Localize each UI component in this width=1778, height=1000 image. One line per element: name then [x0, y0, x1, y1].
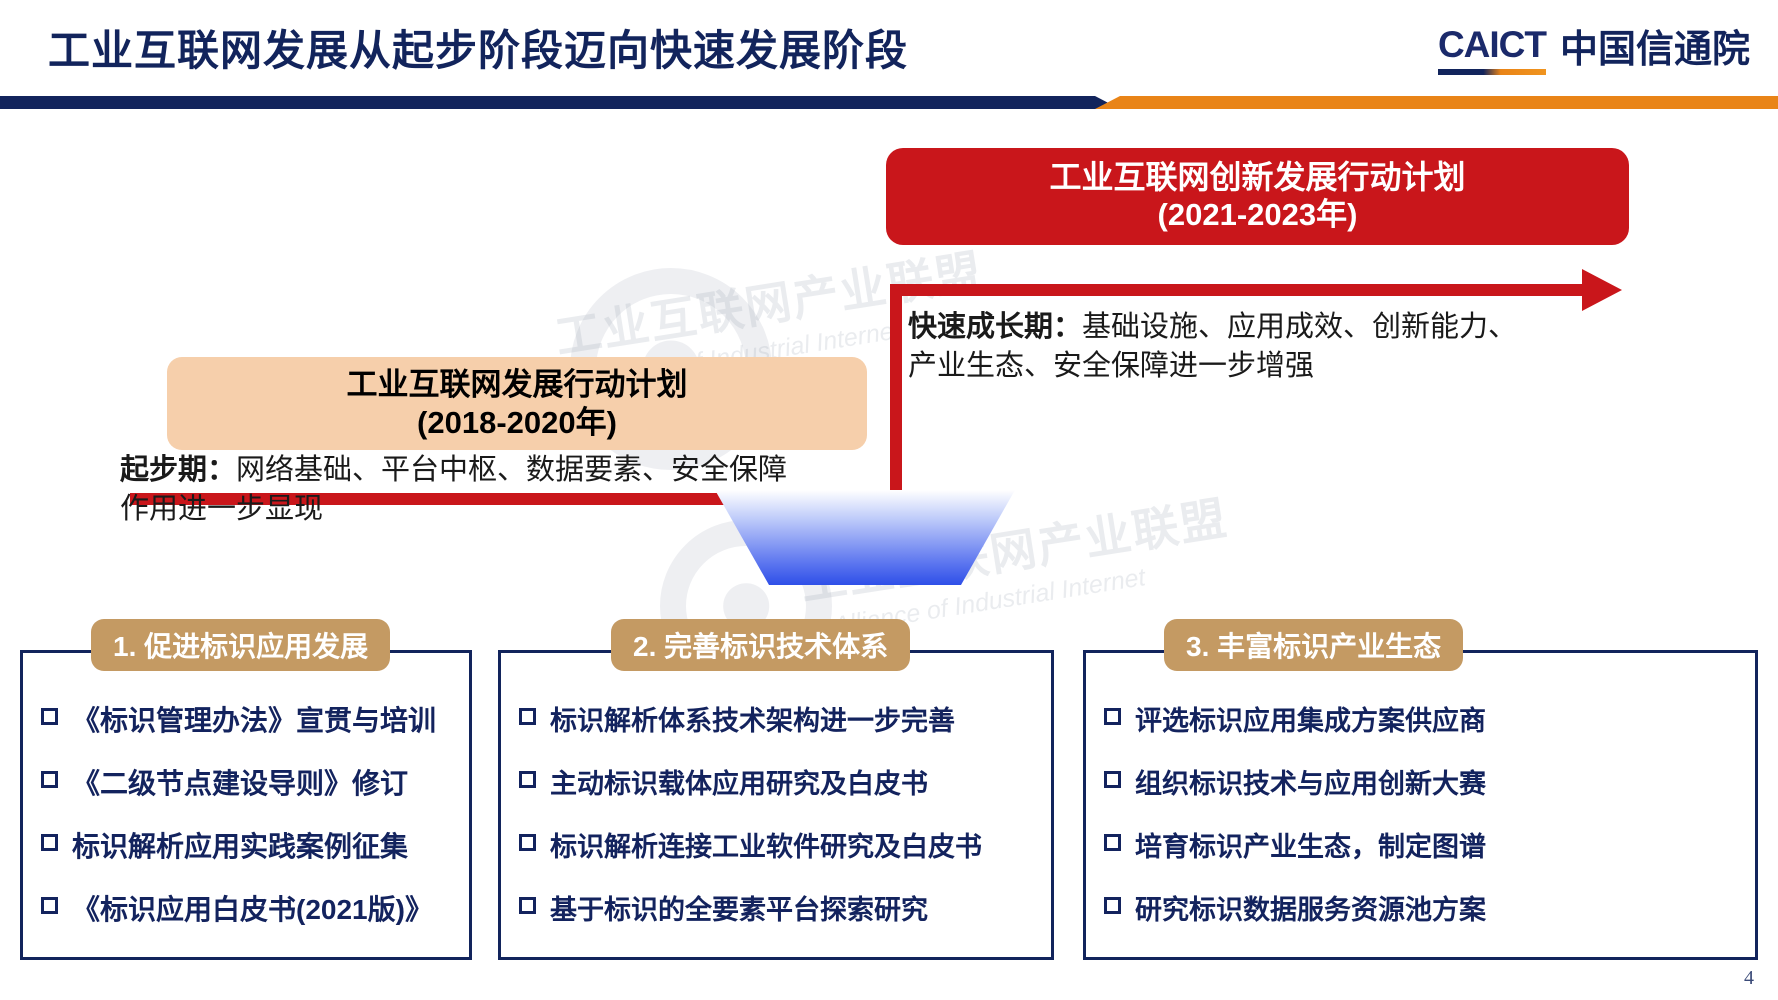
square-bullet-icon	[1104, 834, 1121, 851]
list-item: 《标识管理办法》宣贯与培训	[41, 699, 459, 739]
panel-2-list: 标识解析体系技术架构进一步完善 主动标识载体应用研究及白皮书 标识解析连接工业软…	[519, 699, 1041, 951]
square-bullet-icon	[1104, 897, 1121, 914]
square-bullet-icon	[41, 708, 58, 725]
fast-growth-phase-line2: 产业生态、安全保障进一步增强	[908, 350, 1314, 382]
divider-orange-segment	[1095, 96, 1778, 109]
fast-growth-phase-description: 快速成长期：基础设施、应用成效、创新能力、 产业生态、安全保障进一步增强	[908, 308, 1638, 385]
list-item-label: 标识解析应用实践案例征集	[72, 825, 408, 865]
development-plan-card: 工业互联网发展行动计划 (2018-2020年)	[167, 357, 867, 450]
timeline-arrowhead-icon	[1582, 269, 1622, 311]
panel-enrich-identifier-ecosystem: 3. 丰富标识产业生态 评选标识应用集成方案供应商 组织标识技术与应用创新大赛 …	[1083, 650, 1758, 960]
fast-growth-phase-line1: 基础设施、应用成效、创新能力、	[1082, 311, 1517, 343]
start-phase-label: 起步期：	[120, 454, 236, 486]
development-plan-name: 工业互联网发展行动计划	[347, 366, 688, 403]
square-bullet-icon	[41, 897, 58, 914]
list-item-label: 《标识应用白皮书(2021版)》	[72, 888, 433, 928]
list-item: 研究标识数据服务资源池方案	[1104, 888, 1745, 927]
list-item: 主动标识载体应用研究及白皮书	[519, 762, 1041, 801]
blue-funnel-shape	[715, 490, 1015, 585]
list-item: 基于标识的全要素平台探索研究	[519, 888, 1041, 927]
list-item: 《标识应用白皮书(2021版)》	[41, 888, 459, 928]
list-item-label: 研究标识数据服务资源池方案	[1135, 888, 1486, 927]
list-item-label: 基于标识的全要素平台探索研究	[550, 888, 928, 927]
panel-3-list: 评选标识应用集成方案供应商 组织标识技术与应用创新大赛 培育标识产业生态，制定图…	[1104, 699, 1745, 951]
innovation-plan-period: (2021-2023年)	[1158, 197, 1358, 234]
square-bullet-icon	[519, 708, 536, 725]
list-item-label: 《标识管理办法》宣贯与培训	[72, 699, 436, 739]
caict-wordmark: CAICT	[1438, 24, 1546, 75]
square-bullet-icon	[519, 897, 536, 914]
square-bullet-icon	[41, 834, 58, 851]
list-item: 组织标识技术与应用创新大赛	[1104, 762, 1745, 801]
panel-1-heading: 1. 促进标识应用发展	[91, 619, 390, 671]
header-divider	[0, 96, 1778, 109]
list-item: 培育标识产业生态，制定图谱	[1104, 825, 1745, 864]
start-phase-line1: 网络基础、平台中枢、数据要素、安全保障	[236, 454, 787, 486]
square-bullet-icon	[519, 771, 536, 788]
innovation-plan-name: 工业互联网创新发展行动计划	[1049, 159, 1465, 197]
list-item: 标识解析连接工业软件研究及白皮书	[519, 825, 1041, 864]
panel-2-heading: 2. 完善标识技术体系	[611, 619, 910, 671]
slide-header: 工业互联网发展从起步阶段迈向快速发展阶段 CAICT 中国信通院	[0, 0, 1778, 108]
panel-improve-identifier-technology: 2. 完善标识技术体系 标识解析体系技术架构进一步完善 主动标识载体应用研究及白…	[498, 650, 1054, 960]
list-item-label: 评选标识应用集成方案供应商	[1135, 699, 1486, 738]
timeline-riser-segment	[890, 284, 902, 505]
page-number: 4	[1744, 967, 1754, 990]
square-bullet-icon	[1104, 708, 1121, 725]
divider-navy-segment	[0, 96, 1120, 109]
list-item: 《二级节点建设导则》修订	[41, 762, 459, 802]
list-item-label: 标识解析体系技术架构进一步完善	[550, 699, 955, 738]
caict-logo: CAICT 中国信通院	[1438, 24, 1750, 75]
list-item: 标识解析体系技术架构进一步完善	[519, 699, 1041, 738]
list-item: 标识解析应用实践案例征集	[41, 825, 459, 865]
start-phase-line2: 作用进一步显现	[120, 493, 323, 525]
caict-underline-rule	[1438, 69, 1546, 75]
square-bullet-icon	[1104, 771, 1121, 788]
square-bullet-icon	[41, 771, 58, 788]
list-item-label: 组织标识技术与应用创新大赛	[1135, 762, 1486, 801]
square-bullet-icon	[519, 834, 536, 851]
list-item: 评选标识应用集成方案供应商	[1104, 699, 1745, 738]
page-title: 工业互联网发展从起步阶段迈向快速发展阶段	[48, 17, 908, 78]
panel-3-heading: 3. 丰富标识产业生态	[1164, 619, 1463, 671]
caict-abbr-text: CAICT	[1438, 24, 1546, 65]
list-item-label: 标识解析连接工业软件研究及白皮书	[550, 825, 982, 864]
list-item-label: 培育标识产业生态，制定图谱	[1135, 825, 1486, 864]
fast-growth-phase-label: 快速成长期：	[908, 311, 1082, 343]
development-plan-period: (2018-2020年)	[417, 404, 617, 441]
list-item-label: 《二级节点建设导则》修订	[72, 762, 408, 802]
panel-promote-identifier-application: 1. 促进标识应用发展 《标识管理办法》宣贯与培训 《二级节点建设导则》修订 标…	[20, 650, 472, 960]
timeline-upper-segment	[890, 284, 1590, 296]
innovation-plan-card: 工业互联网创新发展行动计划 (2021-2023年)	[886, 148, 1629, 245]
caict-chinese-name: 中国信通院	[1560, 31, 1750, 75]
panel-1-list: 《标识管理办法》宣贯与培训 《二级节点建设导则》修订 标识解析应用实践案例征集 …	[41, 699, 459, 951]
list-item-label: 主动标识载体应用研究及白皮书	[550, 762, 928, 801]
